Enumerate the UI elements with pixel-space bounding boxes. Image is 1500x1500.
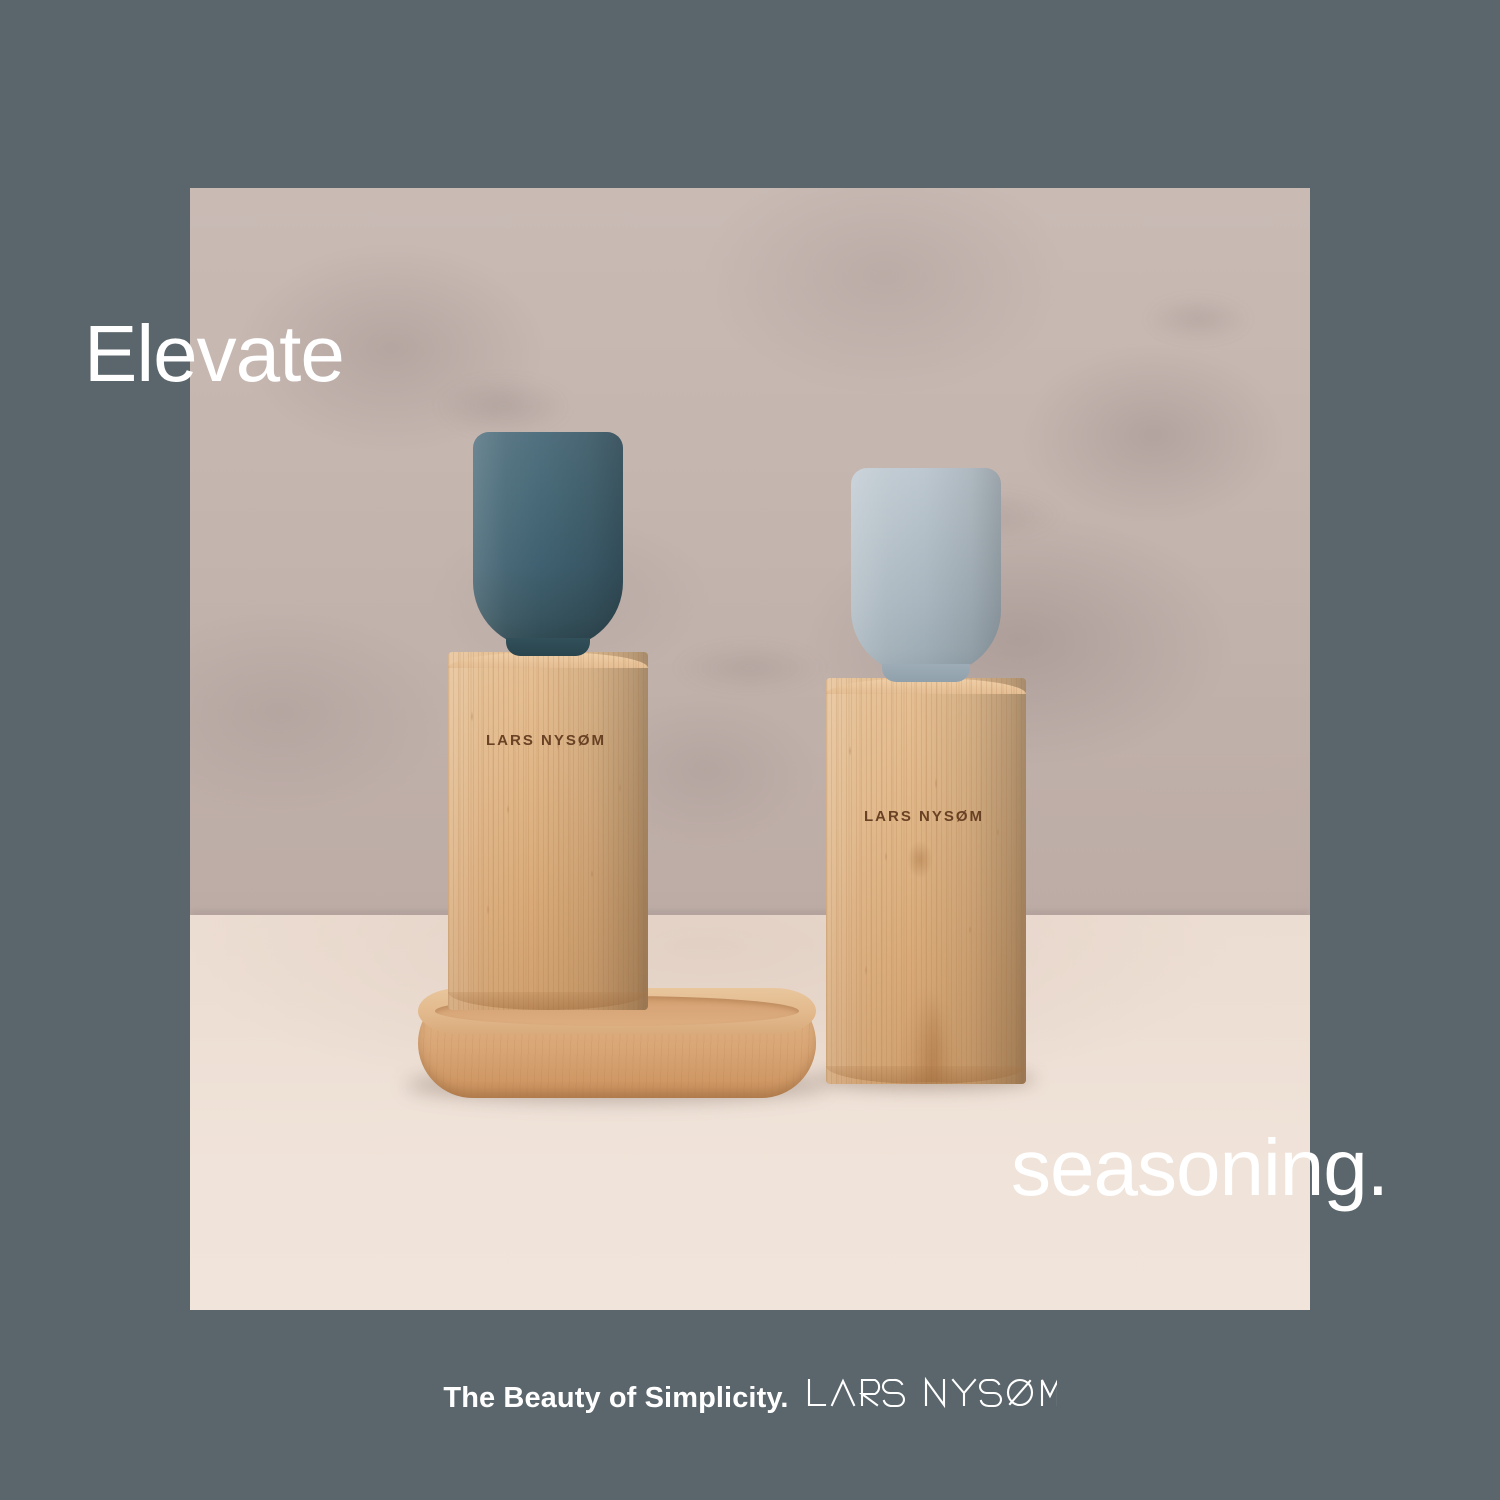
grinder-left-wood-flecks <box>448 652 648 1010</box>
grinder-left-knob-foot <box>506 638 590 656</box>
grinder-left-ceramic-knob <box>473 432 623 648</box>
lars-nysom-logotype-icon <box>805 1376 1057 1410</box>
grinder-left-wood-body <box>448 652 648 1010</box>
grinder-right-wood-body <box>826 678 1026 1084</box>
grinder-right-knob-foot <box>882 664 970 682</box>
footer-tagline: The Beauty of Simplicity. <box>0 1376 1500 1415</box>
table-surface <box>190 915 1310 1310</box>
grinder-left-brand-engraving: LARS NYSØM <box>486 732 606 749</box>
grinder-right-brand-engraving: LARS NYSØM <box>864 808 984 825</box>
grinder-left: LARS NYSØM <box>448 432 648 1010</box>
ad-canvas: LARS NYSØM LARS NYSØM Elevate seasoning.… <box>0 0 1500 1500</box>
grinder-right: LARS NYSØM <box>826 468 1026 1084</box>
headline-line-two: seasoning. <box>1011 1128 1388 1208</box>
lars-nysom-logo <box>805 1376 1057 1415</box>
grinder-right-wood-flecks <box>826 678 1026 1084</box>
headline-line-one: Elevate <box>84 314 344 394</box>
plaster-wall-background <box>190 188 1310 915</box>
tagline-phrase: The Beauty of Simplicity. <box>443 1382 788 1414</box>
grinder-right-ceramic-knob <box>851 468 1001 674</box>
